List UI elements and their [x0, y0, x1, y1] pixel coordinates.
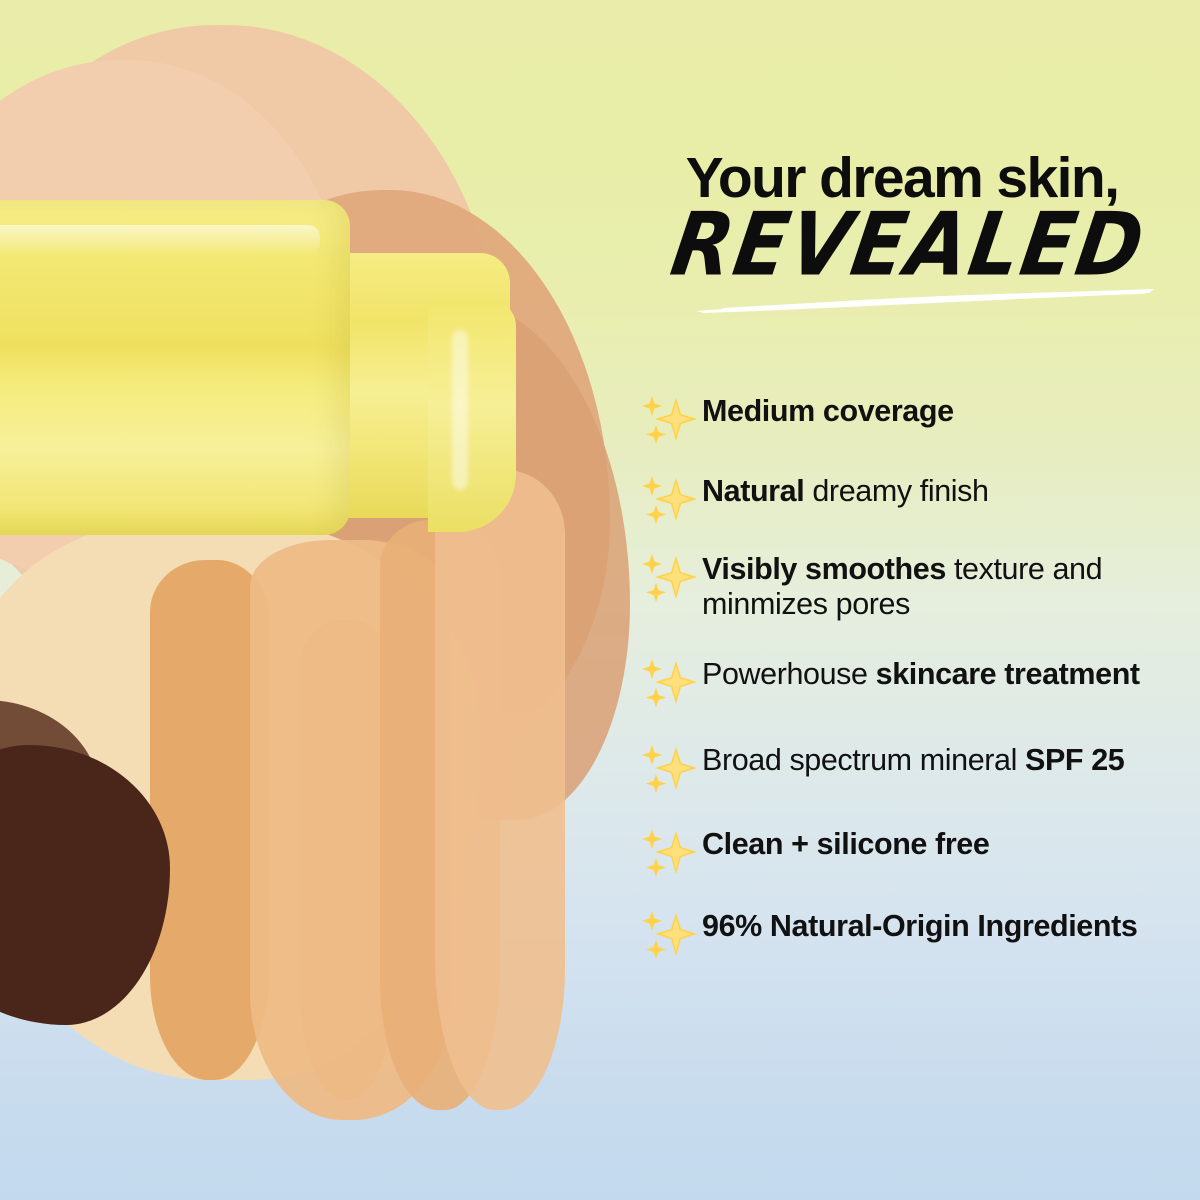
sparkles-icon	[640, 909, 702, 963]
headline-block: Your dream skin, REVEALED	[622, 150, 1182, 307]
nozzle-highlight	[452, 330, 468, 490]
headline-script-wrap: REVEALED	[622, 211, 1182, 307]
sparkles-icon	[640, 743, 702, 797]
feature-text: 96% Natural-Origin Ingredients	[702, 907, 1200, 944]
feature-bold: Visibly smoothes	[702, 552, 946, 586]
bottle-nozzle	[428, 300, 516, 532]
feature-text: Medium coverage	[702, 392, 1200, 429]
feature-item-spf: Broad spectrum mineral SPF 25	[640, 741, 1200, 797]
feature-regular: Powerhouse	[702, 657, 876, 691]
feature-item-natural-origin: 96% Natural-Origin Ingredients	[640, 907, 1200, 963]
feature-regular: dreamy finish	[804, 474, 988, 508]
sparkles-icon	[640, 827, 702, 881]
sparkles-icon	[640, 552, 702, 606]
feature-bold: skincare treatment	[876, 657, 1140, 691]
sparkles-icon	[640, 474, 702, 528]
feature-bold: Natural	[702, 474, 804, 508]
feature-list: Medium coverage Natural dreamy finish	[640, 392, 1200, 963]
bottle-highlight	[0, 225, 320, 255]
feature-item-visibly-smoothes: Visibly smoothes texture and minmizes po…	[640, 550, 1200, 623]
sparkles-icon	[640, 657, 702, 711]
feature-text: Broad spectrum mineral SPF 25	[702, 741, 1200, 778]
feature-bold: 96% Natural-Origin Ingredients	[702, 909, 1137, 943]
feature-text: Natural dreamy finish	[702, 472, 1200, 509]
feature-item-natural-finish: Natural dreamy finish	[640, 472, 1200, 528]
content-column: Your dream skin, REVEALED	[600, 0, 1200, 1200]
feature-item-medium-coverage: Medium coverage	[640, 392, 1200, 448]
feature-regular: Broad spectrum mineral	[702, 743, 1025, 777]
foundation-drip-d	[435, 470, 565, 1110]
feature-text: Clean + silicone free	[702, 825, 1200, 862]
headline-line-2: REVEALED	[666, 202, 1151, 289]
promo-canvas: Your dream skin, REVEALED	[0, 0, 1200, 1200]
sparkles-icon	[640, 394, 702, 448]
product-photo	[0, 0, 640, 1200]
feature-item-skincare-treatment: Powerhouse skincare treatment	[640, 655, 1200, 711]
feature-item-clean-silicone-free: Clean + silicone free	[640, 825, 1200, 881]
feature-bold: Medium coverage	[702, 394, 954, 428]
feature-text: Visibly smoothes texture and minmizes po…	[702, 550, 1200, 623]
feature-bold: Clean + silicone free	[702, 827, 989, 861]
feature-bold: SPF 25	[1025, 743, 1124, 777]
feature-text: Powerhouse skincare treatment	[702, 655, 1200, 692]
